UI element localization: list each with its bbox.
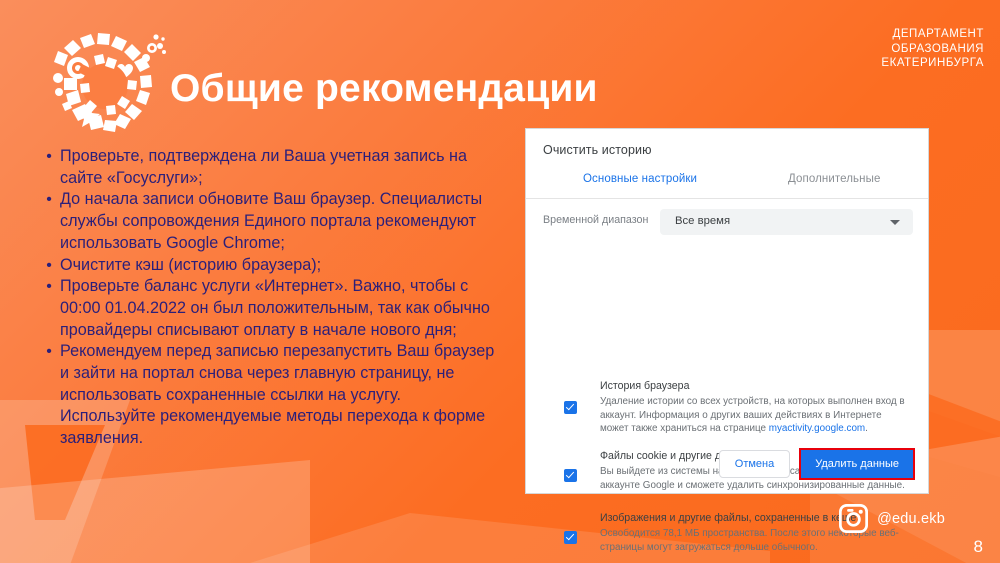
bullet-marker-icon: •: [38, 341, 60, 363]
option-description: Удаление истории со всех устройств, на к…: [600, 395, 912, 436]
list-item-text: До начала записи обновите Ваш браузер. С…: [60, 189, 500, 254]
list-item: • Проверьте баланс услуги «Интернет». Ва…: [38, 276, 500, 341]
list-item: • Рекомендуем перед записью перезапустит…: [38, 341, 500, 450]
checkbox-cached-images[interactable]: [564, 531, 577, 544]
instagram-handle: @edu.ekb: [877, 511, 945, 527]
myactivity-link[interactable]: myactivity.google.com: [769, 423, 865, 434]
department-label: ДЕПАРТАМЕНТ ОБРАЗОВАНИЯ ЕКАТЕРИНБУРГА: [881, 27, 984, 71]
slide-canvas: ДЕПАРТАМЕНТ ОБРАЗОВАНИЯ ЕКАТЕРИНБУРГА Об…: [0, 0, 1000, 563]
department-line-2: ОБРАЗОВАНИЯ: [881, 42, 984, 57]
list-item: • Проверьте, подтверждена ли Ваша учетна…: [38, 146, 500, 189]
cancel-button[interactable]: Отмена: [719, 450, 790, 478]
bullet-marker-icon: •: [38, 189, 60, 211]
department-line-3: ЕКАТЕРИНБУРГА: [881, 56, 984, 71]
dialog-title: Очистить историю: [543, 143, 652, 157]
tab-basic-settings[interactable]: Основные настройки: [583, 173, 697, 185]
tab-advanced-settings[interactable]: Дополнительные: [788, 173, 880, 185]
time-range-label: Временной диапазон: [543, 214, 648, 226]
time-range-value: Все время: [675, 215, 730, 227]
social-footer: @edu.ekb: [839, 504, 945, 533]
option-description-tail: .: [865, 423, 868, 434]
checkbox-cookies[interactable]: [564, 469, 577, 482]
instagram-icon[interactable]: [839, 504, 868, 533]
list-item-text: Проверьте, подтверждена ли Ваша учетная …: [60, 146, 500, 189]
list-item-text: Очистите кэш (историю браузера);: [60, 255, 500, 277]
option-title: История браузера: [600, 379, 912, 393]
page-title: Общие рекомендации: [170, 66, 598, 112]
checkbox-browsing-history[interactable]: [564, 401, 577, 414]
time-range-select[interactable]: Все время: [660, 209, 913, 235]
delete-button-highlight: Удалить данные: [799, 448, 915, 480]
recommendations-list: • Проверьте, подтверждена ли Ваша учетна…: [38, 146, 500, 450]
list-item: • Очистите кэш (историю браузера);: [38, 255, 500, 277]
dialog-tabs: Основные настройки Дополнительные: [526, 171, 928, 199]
department-line-1: ДЕПАРТАМЕНТ: [881, 27, 984, 42]
bullet-marker-icon: •: [38, 276, 60, 298]
bullet-marker-icon: •: [38, 255, 60, 277]
page-number: 8: [974, 537, 983, 557]
list-item-text: Рекомендуем перед записью перезапустить …: [60, 341, 500, 450]
chevron-down-icon: [890, 220, 900, 225]
clear-browsing-data-dialog: Очистить историю Основные настройки Допо…: [525, 128, 929, 494]
bullet-marker-icon: •: [38, 146, 60, 168]
ekaterinburg-education-logo: [42, 26, 168, 134]
time-range-row: Временной диапазон Все время: [543, 209, 913, 235]
list-item-text: Проверьте баланс услуги «Интернет». Важн…: [60, 276, 500, 341]
list-item: • До начала записи обновите Ваш браузер.…: [38, 189, 500, 254]
dialog-actions: Отмена Удалить данные: [719, 448, 915, 480]
delete-data-button[interactable]: Удалить данные: [801, 450, 913, 478]
